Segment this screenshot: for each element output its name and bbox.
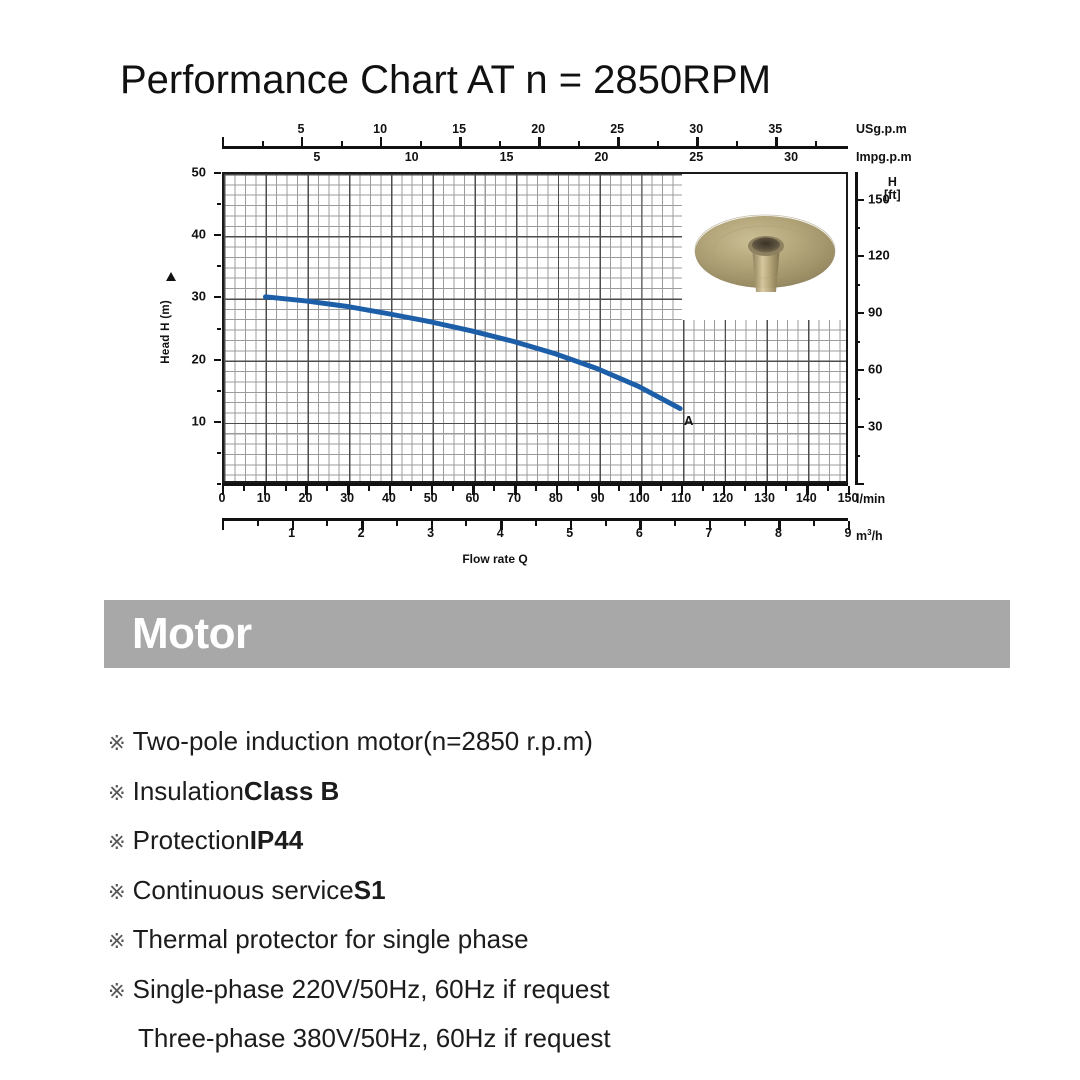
motor-heading: Motor [132, 609, 252, 659]
axis-tick [674, 521, 676, 526]
plot-area [222, 172, 848, 483]
axis-tick [326, 521, 328, 526]
axis-tick [214, 421, 221, 423]
axis-tick-label: 50 [424, 491, 438, 505]
performance-chart: 5101520253035 USg.p.m 51015202530 Impg.p… [0, 0, 1080, 580]
axis-tick-label: 10 [172, 413, 206, 428]
axis-tick [420, 141, 422, 146]
axis-tick-label: 40 [172, 227, 206, 242]
axis-tick-label: 2 [358, 526, 365, 540]
axis-tick [217, 265, 221, 267]
axis-tick-label: 20 [172, 351, 206, 366]
axis-tick [855, 426, 864, 428]
axis-tick [617, 137, 619, 146]
axis-tick [813, 521, 815, 526]
axis-tick [285, 486, 287, 491]
axis-tick [410, 486, 412, 491]
axis-tick-label: 30 [172, 289, 206, 304]
axis-tick-label: 30 [340, 491, 354, 505]
axis-tick [605, 521, 607, 526]
axis-tick [452, 486, 454, 491]
axis-tick [855, 312, 864, 314]
axis-tick [855, 341, 860, 343]
axis-tick [577, 486, 579, 491]
axis-tick [855, 227, 860, 229]
axis-tick [827, 486, 829, 491]
motor-spec-item: ※Continuous service S1 [108, 867, 1008, 917]
axis-tick-label: 30 [868, 419, 882, 434]
axis-tick-label: 70 [507, 491, 521, 505]
motor-spec-item: ※Thermal protector for single phase [108, 916, 1008, 966]
axis-tick [775, 137, 777, 146]
axis-tick-label: 4 [497, 526, 504, 540]
axis-tick [459, 137, 461, 146]
axis-tick-label: 20 [531, 122, 545, 136]
axis-tick [538, 137, 540, 146]
motor-spec-text: Continuous service [133, 867, 354, 914]
axis-tick-label: 5 [298, 122, 305, 136]
motor-spec-text: Two-pole induction motor(n=2850 r.p.m) [133, 718, 593, 765]
axis-tick-label: 60 [465, 491, 479, 505]
motor-spec-item: ※Two-pole induction motor(n=2850 r.p.m) [108, 718, 1008, 768]
axis-tick [578, 141, 580, 146]
axis-tick-label: 0 [219, 491, 226, 505]
axis-tick [855, 455, 860, 457]
axis-tick [341, 141, 343, 146]
motor-spec-text: Insulation [133, 768, 244, 815]
axis-tick [222, 521, 224, 530]
motor-spec-item: ※Single-phase 220V/50Hz, 60Hz if request [108, 966, 1008, 1016]
axis-tick-label: 10 [405, 150, 419, 164]
axis-tick-label: 5 [566, 526, 573, 540]
axis-tick [326, 486, 328, 491]
axis-unit-lmin: l/min [856, 492, 885, 506]
motor-spec-value: S1 [354, 867, 386, 914]
axis-tick [855, 255, 864, 257]
bullet-mark-icon: ※ [108, 771, 126, 818]
axis-tick [217, 452, 221, 454]
bullet-mark-icon: ※ [108, 969, 126, 1016]
performance-curve [224, 174, 846, 481]
axis-tick-label: 35 [768, 122, 782, 136]
axis-tick-label: 20 [594, 150, 608, 164]
axis-tick-label: 100 [629, 491, 650, 505]
axis-tick [744, 486, 746, 491]
axis-tick-label: 25 [689, 150, 703, 164]
motor-spec-continuation: Three-phase 380V/50Hz, 60Hz if request [108, 1015, 1008, 1062]
axis-tick [301, 137, 303, 146]
bullet-mark-icon: ※ [108, 721, 126, 768]
axis-tick-label: 9 [845, 526, 852, 540]
axis-bottom-lmin: 0102030405060708090100110120130140150 [222, 483, 848, 509]
axis-tick-label: 130 [754, 491, 775, 505]
axis-tick [396, 521, 398, 526]
motor-spec-value: IP44 [250, 817, 304, 864]
axis-tick-label: 140 [796, 491, 817, 505]
axis-right-line [855, 172, 858, 483]
axis-tick [243, 486, 245, 491]
bullet-mark-icon: ※ [108, 919, 126, 966]
axis-unit-head-ft: H [ft] [884, 176, 901, 202]
axis-tick-label: 8 [775, 526, 782, 540]
motor-spec-item: ※Protection IP44 [108, 817, 1008, 867]
motor-spec-list: ※Two-pole induction motor(n=2850 r.p.m)※… [108, 718, 1008, 1062]
performance-chart-page: Performance Chart AT n = 2850RPM 5101520… [0, 0, 1080, 1080]
axis-tick [618, 486, 620, 491]
axis-tick-label: 30 [689, 122, 703, 136]
axis-tick-label: 80 [549, 491, 563, 505]
axis-tick [855, 398, 860, 400]
motor-spec-text: Protection [133, 817, 250, 864]
axis-tick [217, 203, 221, 205]
axis-tick [535, 521, 537, 526]
axis-tick-label: 10 [373, 122, 387, 136]
axis-tick-label: 5 [313, 150, 320, 164]
axis-tick [855, 369, 864, 371]
axis-tick [657, 141, 659, 146]
axis-tick [535, 486, 537, 491]
motor-spec-text: Three-phase 380V/50Hz, 60Hz if request [138, 1015, 611, 1062]
axis-label-head: Head H (m) [160, 300, 172, 364]
axis-tick [702, 486, 704, 491]
axis-tick-label: 15 [500, 150, 514, 164]
motor-section-header: Motor [104, 600, 1010, 668]
axis-tick [855, 483, 864, 485]
axis-tick-label: 7 [705, 526, 712, 540]
curve-endpoint-label: A [684, 413, 693, 428]
bullet-mark-icon: ※ [108, 870, 126, 917]
axis-tick-label: 60 [868, 362, 882, 377]
axis-tick [855, 199, 864, 201]
axis-tick [493, 486, 495, 491]
axis-tick [499, 141, 501, 146]
axis-tick-label: 3 [427, 526, 434, 540]
axis-tick [785, 486, 787, 491]
axis-tick-label: 10 [257, 491, 271, 505]
axis-tick-label: 90 [591, 491, 605, 505]
motor-spec-item: ※Insulation Class B [108, 768, 1008, 818]
axis-tick-label: 110 [671, 491, 691, 505]
axis-tick-label: 20 [299, 491, 313, 505]
axis-tick [222, 137, 224, 146]
axis-tick-label: 15 [452, 122, 466, 136]
axis-tick [660, 486, 662, 491]
motor-spec-value: Class B [244, 768, 339, 815]
axis-tick [696, 137, 698, 146]
axis-tick-label: 40 [382, 491, 396, 505]
axis-tick [214, 296, 221, 298]
axis-tick [855, 284, 860, 286]
axis-tick-label: 1 [288, 526, 295, 540]
axis-unit-impgpm: Impg.p.m [856, 150, 912, 164]
axis-tick [217, 328, 221, 330]
axis-tick-label: 90 [868, 305, 882, 320]
axis-tick-label: 120 [868, 248, 890, 263]
axis-tick [214, 359, 221, 361]
axis-tick-label: 6 [636, 526, 643, 540]
bullet-mark-icon: ※ [108, 820, 126, 867]
axis-tick-label: 25 [610, 122, 624, 136]
axis-tick [815, 141, 817, 146]
axis-tick [744, 521, 746, 526]
motor-spec-text: Single-phase 220V/50Hz, 60Hz if request [133, 966, 610, 1013]
motor-spec-text: Thermal protector for single phase [133, 916, 529, 963]
axis-label-flowrate: Flow rate Q [0, 552, 1080, 566]
axis-tick [217, 390, 221, 392]
axis-tick [214, 234, 221, 236]
axis-unit-usgpm: USg.p.m [856, 122, 907, 136]
axis-tick [465, 521, 467, 526]
axis-tick [736, 141, 738, 146]
axis-tick-label: 30 [784, 150, 798, 164]
head-axis-arrow-icon [166, 272, 176, 281]
axis-tick-label: 120 [712, 491, 733, 505]
axis-line [222, 146, 848, 149]
axis-tick [214, 172, 221, 174]
axis-tick [380, 137, 382, 146]
axis-tick [217, 483, 221, 485]
axis-unit-m3h: m3/h [856, 528, 883, 543]
axis-tick-label: 50 [172, 165, 206, 180]
axis-tick [257, 521, 259, 526]
axis-tick [262, 141, 264, 146]
axis-bottom-m3h: 123456789 [222, 518, 848, 544]
axis-tick [368, 486, 370, 491]
